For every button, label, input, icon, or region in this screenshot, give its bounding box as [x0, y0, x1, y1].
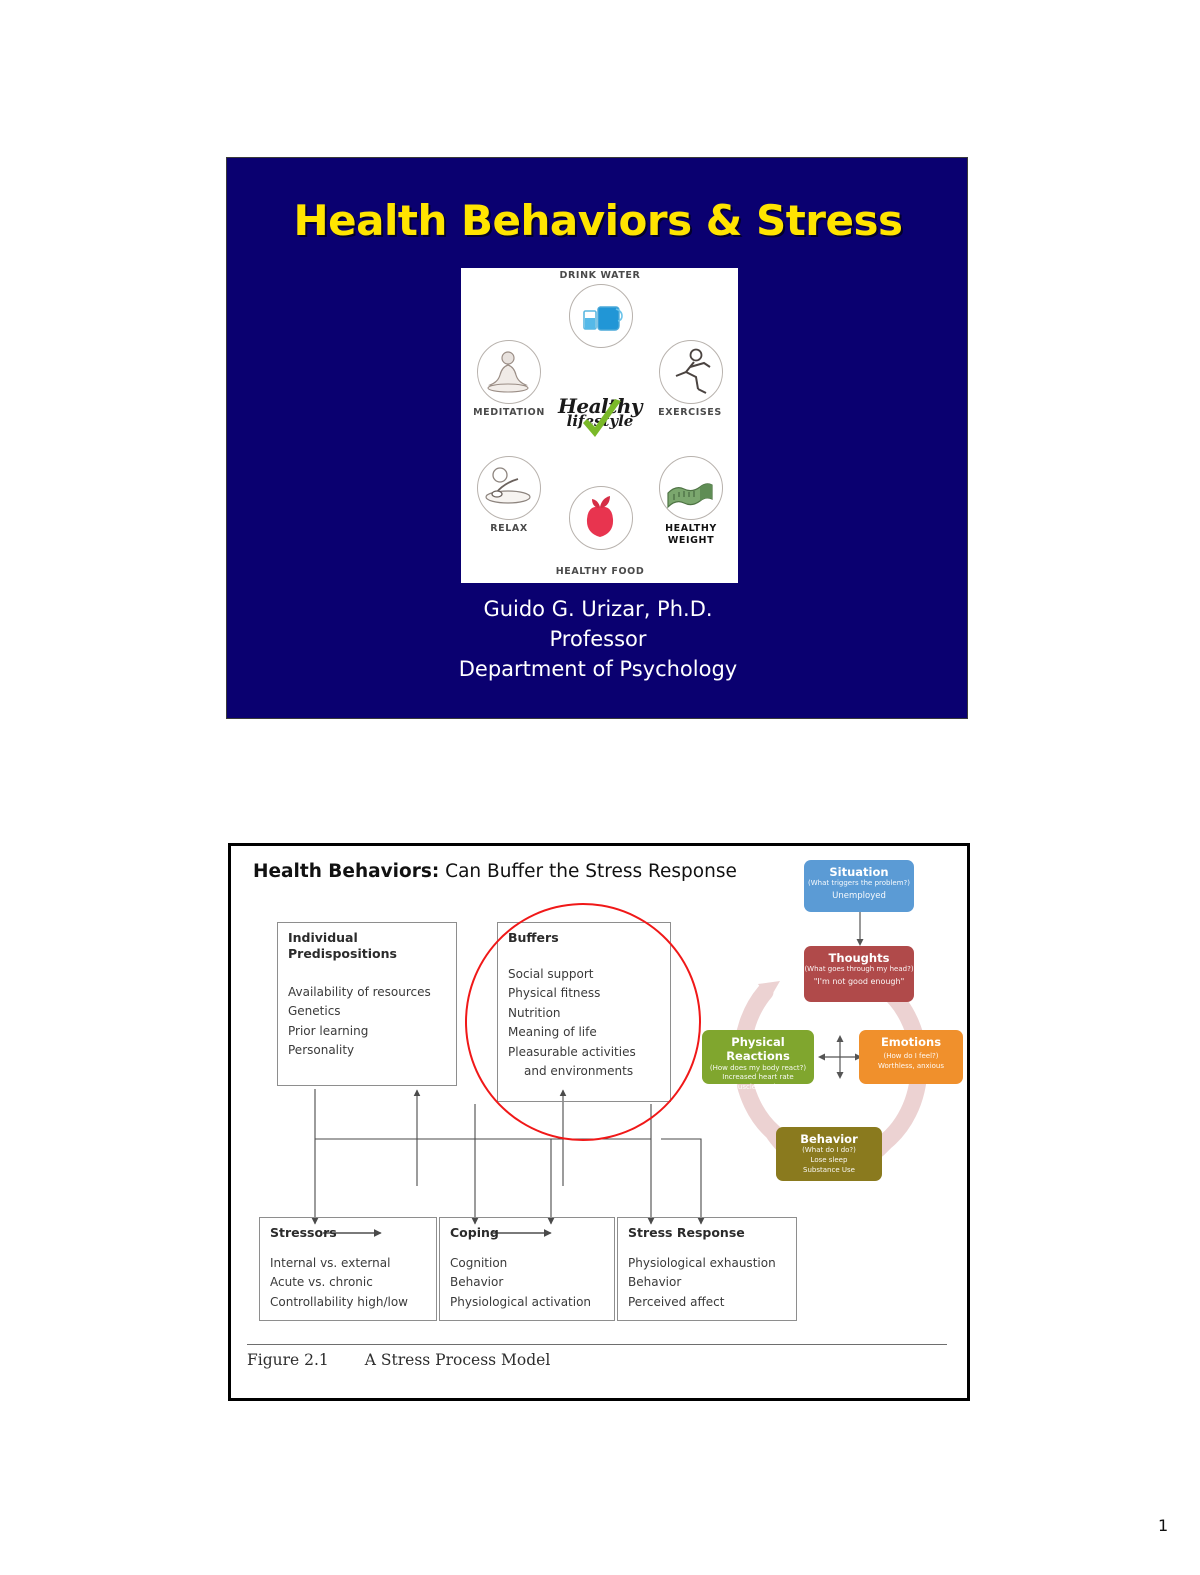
box-buffers: Buffers Social support Physical fitness …	[497, 922, 671, 1102]
author-department: Department of Psychology	[227, 655, 969, 685]
cycle-node-thoughts: Thoughts (What goes through my head?) "I…	[804, 946, 914, 1002]
healthy-weight-label-line2: WEIGHT	[651, 535, 731, 546]
box-coping: Coping Cognition Behavior Physiological …	[439, 1217, 615, 1321]
title-slide: Health Behaviors & Stress DRINK WATER ME…	[226, 157, 968, 719]
diagram-slide: Health Behaviors: Can Buffer the Stress …	[228, 843, 970, 1401]
relax-label: RELAX	[481, 523, 537, 534]
author-name: Guido G. Urizar, Ph.D.	[227, 595, 969, 625]
exercises-icon	[659, 340, 723, 404]
healthy-weight-icon	[659, 456, 723, 520]
box-items: Physiological exhaustion Behavior Percei…	[628, 1254, 776, 1312]
cycle-node-situation: Situation (What triggers the problem?) U…	[804, 860, 914, 912]
box-title: Buffers	[508, 930, 559, 946]
box-title: Individual Predispositions	[288, 930, 397, 961]
cycle-node-physical-reactions: Physical Reactions (How does my body rea…	[702, 1030, 814, 1084]
page-number: 1	[1158, 1516, 1168, 1535]
box-items: Internal vs. external Acute vs. chronic …	[270, 1254, 408, 1312]
arrow-cross-reactions-emotions	[815, 1032, 865, 1082]
page-title: Health Behaviors & Stress	[227, 196, 969, 245]
cycle-node-behavior: Behavior (What do I do?) Lose sleep Subs…	[776, 1127, 882, 1181]
box-title: Stressors	[270, 1225, 337, 1241]
author-block: Guido G. Urizar, Ph.D. Professor Departm…	[227, 595, 969, 684]
cycle-node-emotions: Emotions (How do I feel?) Worthless, anx…	[859, 1030, 963, 1084]
box-individual-predispositions: Individual Predispositions Availability …	[277, 922, 457, 1086]
healthy-weight-label-line1: HEALTHY	[651, 523, 731, 534]
healthy-lifestyle-graphic: DRINK WATER MEDITATION	[461, 268, 738, 583]
healthy-food-icon	[569, 486, 633, 550]
meditation-icon	[477, 340, 541, 404]
author-role: Professor	[227, 625, 969, 655]
green-check-icon	[579, 399, 625, 443]
box-stress-response: Stress Response Physiological exhaustion…	[617, 1217, 797, 1321]
box-items: Cognition Behavior Physiological activat…	[450, 1254, 591, 1312]
box-stressors: Stressors Internal vs. external Acute vs…	[259, 1217, 437, 1321]
box-title: Coping	[450, 1225, 499, 1241]
drink-water-icon	[569, 284, 633, 348]
figure-title: A Stress Process Model	[365, 1351, 551, 1369]
relax-icon	[477, 456, 541, 520]
box-title: Stress Response	[628, 1225, 745, 1241]
caption-divider	[247, 1344, 947, 1345]
arrow-situation-to-thoughts	[855, 912, 865, 948]
figure-caption: Figure 2.1A Stress Process Model	[247, 1351, 550, 1369]
box-items: Social support Physical fitness Nutritio…	[508, 965, 636, 1082]
drink-water-label: DRINK WATER	[525, 270, 675, 281]
healthy-food-label: HEALTHY FOOD	[533, 566, 667, 577]
figure-label: Figure 2.1	[247, 1351, 329, 1369]
box-items: Availability of resources Genetics Prior…	[288, 983, 431, 1061]
